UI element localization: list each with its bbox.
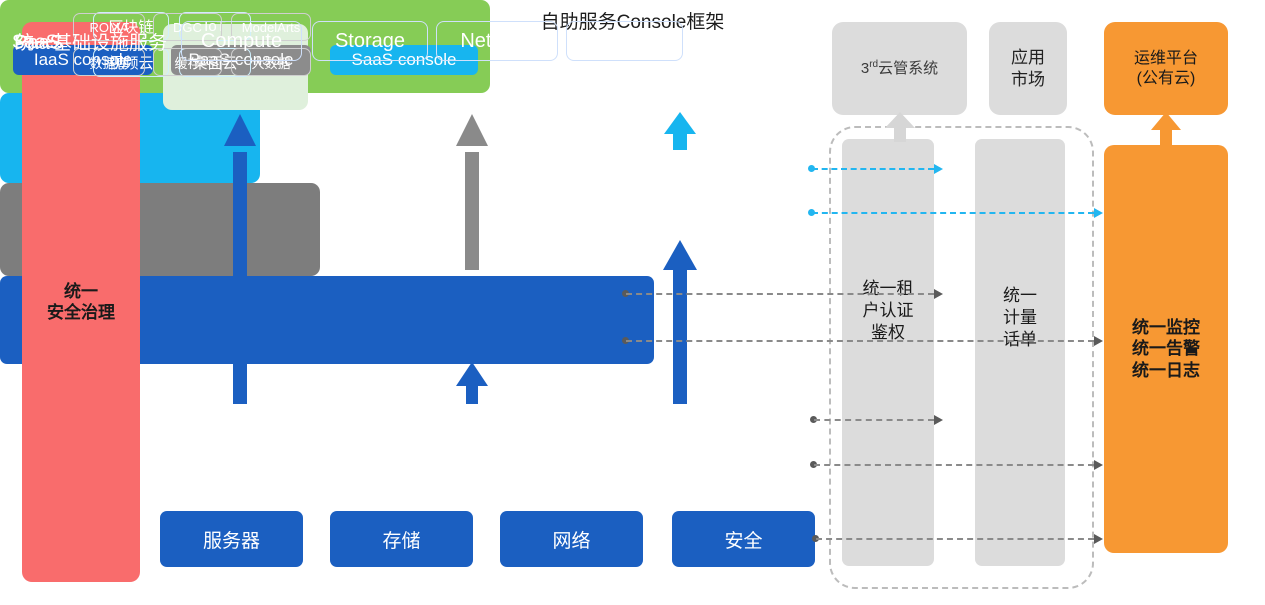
ops-platform-box: 运维平台 (公有云) xyxy=(1104,22,1228,115)
connector-infra-to-auth xyxy=(814,419,934,421)
arrow-to-third-cloud xyxy=(880,112,920,142)
ops-panel-label: 统一监控 统一告警 统一日志 xyxy=(1132,317,1200,381)
bottom-box-network: 网络 xyxy=(500,511,643,567)
connector-saas-to-auth xyxy=(812,168,934,170)
arrow-infra-to-api-gateway xyxy=(220,112,260,404)
arrow-saas-to-console xyxy=(660,112,700,150)
arrow-infra-to-paas xyxy=(452,362,492,404)
infra-item-cce[interactable]: CCE xyxy=(566,21,683,61)
arrowhead-icon xyxy=(1094,208,1103,218)
infrastructure-label: 统一基础设施服务 xyxy=(15,28,167,55)
arrowhead-icon xyxy=(934,415,943,425)
arrowhead-icon xyxy=(934,289,943,299)
bottom-box-server: 服务器 xyxy=(160,511,303,567)
arrowhead-icon xyxy=(934,164,943,174)
unified-metering-billing-column xyxy=(975,139,1065,566)
unified-tenant-auth-label: 统一租 户认证 鉴权 xyxy=(842,278,934,343)
unified-tenant-auth-column xyxy=(842,139,934,566)
arrow-infra-to-saas xyxy=(660,240,700,404)
arrowhead-icon xyxy=(1094,336,1103,346)
arrowhead-icon xyxy=(1094,534,1103,544)
infra-item-storage[interactable]: Storage xyxy=(312,21,428,61)
arrow-paas-to-console xyxy=(452,112,492,270)
architecture-diagram: 统一 安全治理 API网关 自助服务Console框架 IaaS console… xyxy=(0,0,1265,605)
bottom-box-security: 安全 xyxy=(672,511,815,567)
app-market-label: 应用 市场 xyxy=(1011,47,1045,90)
ops-platform-label: 运维平台 (公有云) xyxy=(1134,49,1198,89)
connector-paas-to-auth xyxy=(626,293,934,295)
connector-bottom-to-ops xyxy=(816,538,1094,540)
infra-item-compute[interactable]: Compute xyxy=(181,21,302,61)
unified-monitoring-panel: 统一监控 统一告警 统一日志 xyxy=(1104,145,1228,553)
infra-item-network[interactable]: Network xyxy=(436,21,558,61)
third-cloud-label: 3rd云管系统 xyxy=(861,59,938,79)
connector-infra-to-ops xyxy=(814,464,1094,466)
bottom-box-storage: 存储 xyxy=(330,511,473,567)
security-panel-label: 统一 安全治理 xyxy=(47,281,115,324)
arrowhead-icon xyxy=(1094,460,1103,470)
app-market-box: 应用 市场 xyxy=(989,22,1067,115)
third-party-cloud-management-box: 3rd云管系统 xyxy=(832,22,967,115)
connector-saas-to-ops xyxy=(812,212,1094,214)
unified-security-governance-panel: 统一 安全治理 xyxy=(22,22,140,582)
connector-paas-to-ops xyxy=(626,340,1094,342)
arrow-to-ops-platform xyxy=(1146,112,1186,147)
